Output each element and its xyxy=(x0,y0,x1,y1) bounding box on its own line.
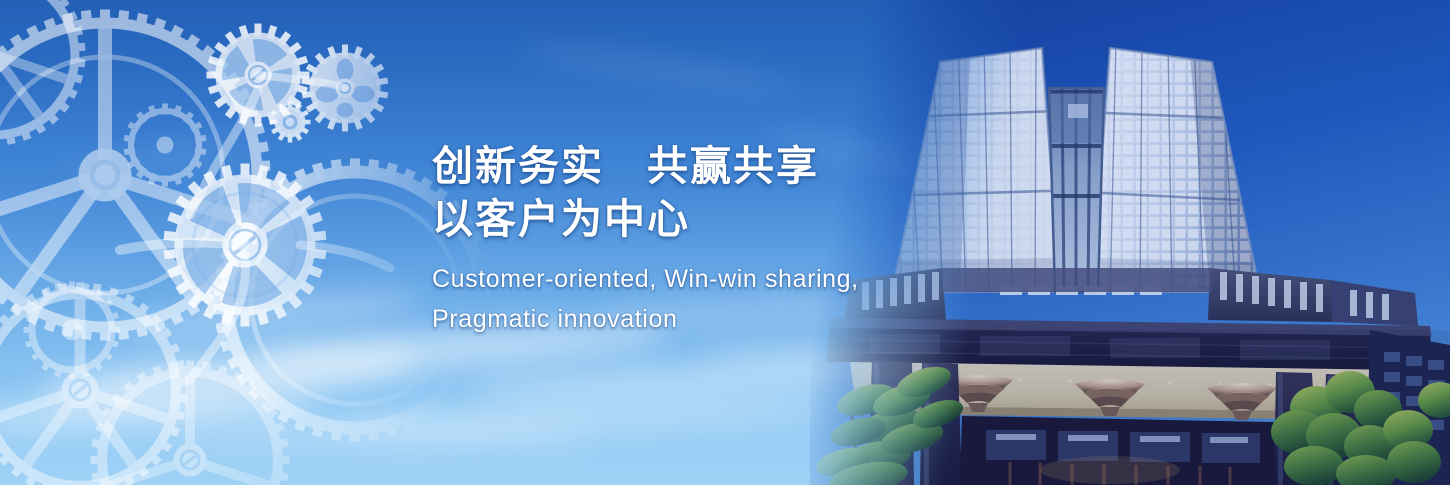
gear-small-inner xyxy=(124,104,206,186)
banner-text-block: 创新务实 共赢共享 以客户为中心 Customer-oriented, Win-… xyxy=(432,140,859,339)
office-tower-photo xyxy=(810,0,1450,485)
headline-line-1: 创新务实 共赢共享 xyxy=(432,140,859,193)
hero-banner: 创新务实 共赢共享 以客户为中心 Customer-oriented, Win-… xyxy=(0,0,1450,485)
headline-line-2: 以客户为中心 xyxy=(432,193,859,246)
subtitle-line-1: Customer-oriented, Win-win sharing, xyxy=(432,259,859,299)
subtitle-line-2: Pragmatic innovation xyxy=(432,299,859,339)
gear-edge-topleft xyxy=(0,0,85,145)
